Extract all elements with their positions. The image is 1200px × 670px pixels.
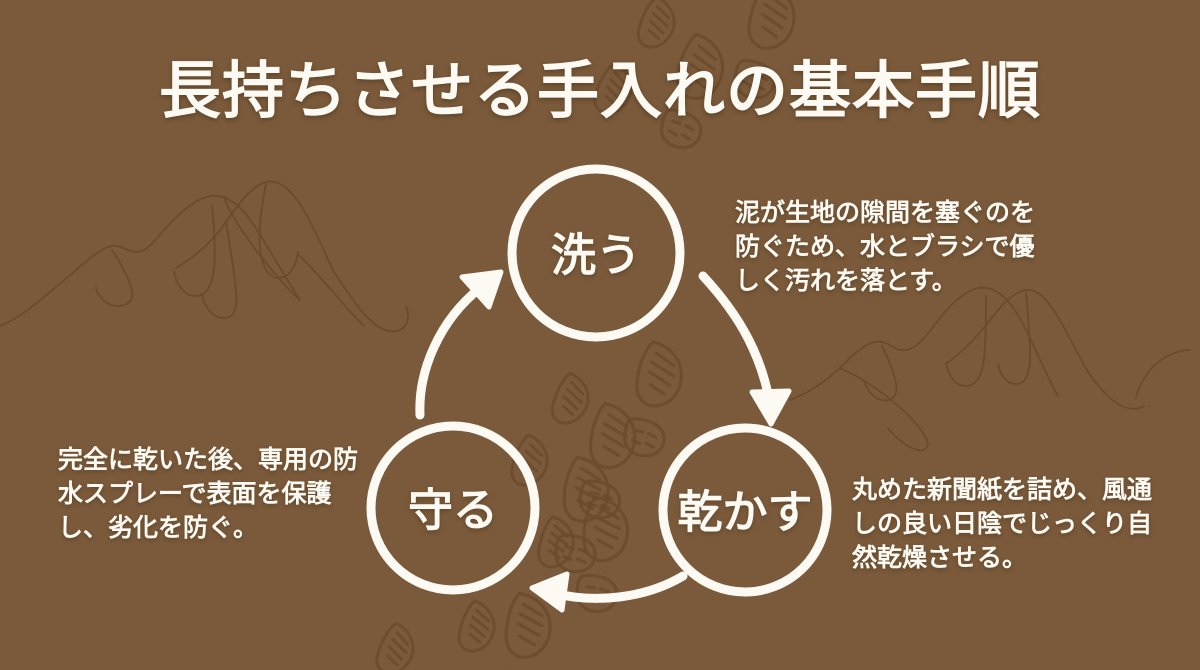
- slide-canvas: 長持ちさせる手入れの基本手順 洗う 乾かす 守る 泥が生地の隙間を塞ぐのを防ぐた…: [0, 0, 1200, 670]
- arrow-protect-to-wash: [420, 272, 501, 415]
- description-dry: 丸めた新聞紙を詰め、風通しの良い日陰でじっくり自然乾燥させる。: [852, 473, 1172, 575]
- arrow-dry-to-protect: [532, 574, 683, 610]
- page-title: 長持ちさせる手入れの基本手順: [0, 58, 1200, 123]
- description-wash: 泥が生地の隙間を塞ぐのを防ぐため、水とブラシで優しく汚れを落とす。: [735, 196, 1055, 298]
- node-label-protect: 守る: [408, 488, 498, 533]
- node-label-wash: 洗う: [551, 233, 641, 278]
- arrow-wash-to-dry: [703, 276, 789, 424]
- description-protect: 完全に乾いた後、専用の防水スプレーで表面を保護し、劣化を防ぐ。: [58, 443, 358, 545]
- node-label-dry: 乾かす: [677, 490, 812, 535]
